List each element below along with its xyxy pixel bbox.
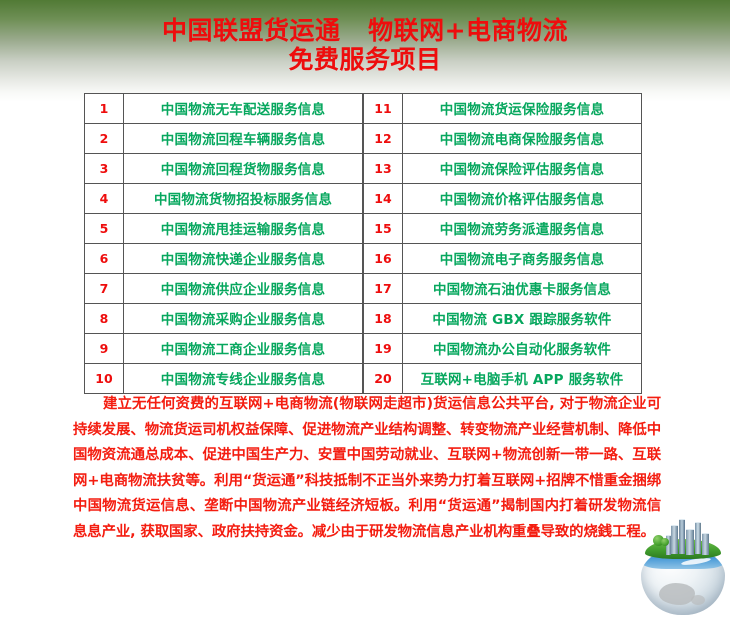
item-label[interactable]: 中国物流劳务派遣服务信息 [403, 214, 642, 244]
item-label[interactable]: 中国物流货运保险服务信息 [403, 94, 642, 124]
service-items-table: 1 中国物流无车配送服务信息 11 中国物流货运保险服务信息 2 中国物流回程车… [84, 93, 642, 394]
item-number: 18 [364, 304, 403, 334]
building-icon [671, 525, 678, 554]
item-number: 1 [85, 94, 124, 124]
page-title: 中国联盟货运通 物联网+电商物流 免费服务项目 [0, 16, 730, 74]
item-label[interactable]: 中国物流回程货物服务信息 [124, 154, 363, 184]
table-row: 7 中国物流供应企业服务信息 17 中国物流石油优惠卡服务信息 [85, 274, 642, 304]
table-row: 10 中国物流专线企业服务信息 20 互联网+电脑手机 APP 服务软件 [85, 364, 642, 394]
table-row: 9 中国物流工商企业服务信息 19 中国物流办公自动化服务软件 [85, 334, 642, 364]
title-line-2: 免费服务项目 [0, 45, 730, 74]
eco-city-globe-icon [637, 519, 729, 617]
item-number: 14 [364, 184, 403, 214]
item-number: 10 [85, 364, 124, 394]
globe-landmass [659, 583, 695, 605]
table-row: 8 中国物流采购企业服务信息 18 中国物流 GBX 跟踪服务软件 [85, 304, 642, 334]
item-label[interactable]: 中国物流甩挂运输服务信息 [124, 214, 363, 244]
item-label[interactable]: 中国物流保险评估服务信息 [403, 154, 642, 184]
body-paragraph: 建立无任何资费的互联网+电商物流(物联网走超市)货运信息公共平台, 对于物流企业… [73, 392, 661, 546]
item-number: 13 [364, 154, 403, 184]
item-label[interactable]: 中国物流专线企业服务信息 [124, 364, 363, 394]
item-number: 17 [364, 274, 403, 304]
title-line-1: 中国联盟货运通 物联网+电商物流 [0, 16, 730, 45]
table-row: 3 中国物流回程货物服务信息 13 中国物流保险评估服务信息 [85, 154, 642, 184]
item-number: 4 [85, 184, 124, 214]
item-label[interactable]: 中国物流电子商务服务信息 [403, 244, 642, 274]
table-row: 6 中国物流快递企业服务信息 16 中国物流电子商务服务信息 [85, 244, 642, 274]
item-label[interactable]: 中国物流办公自动化服务软件 [403, 334, 642, 364]
item-number: 5 [85, 214, 124, 244]
item-label[interactable]: 中国物流快递企业服务信息 [124, 244, 363, 274]
service-items-body: 1 中国物流无车配送服务信息 11 中国物流货运保险服务信息 2 中国物流回程车… [85, 94, 642, 394]
item-number: 9 [85, 334, 124, 364]
table-row: 1 中国物流无车配送服务信息 11 中国物流货运保险服务信息 [85, 94, 642, 124]
item-number: 16 [364, 244, 403, 274]
tree-icon [661, 538, 669, 546]
item-number: 12 [364, 124, 403, 154]
building-icon [679, 519, 685, 554]
table-row: 4 中国物流货物招投标服务信息 14 中国物流价格评估服务信息 [85, 184, 642, 214]
item-label[interactable]: 中国物流货物招投标服务信息 [124, 184, 363, 214]
item-number: 11 [364, 94, 403, 124]
slide-canvas: 中国联盟货运通 物联网+电商物流 免费服务项目 1 中国物流无车配送服务信息 1… [0, 0, 730, 620]
item-number: 3 [85, 154, 124, 184]
item-label[interactable]: 中国物流价格评估服务信息 [403, 184, 642, 214]
item-label[interactable]: 中国物流回程车辆服务信息 [124, 124, 363, 154]
item-label[interactable]: 中国物流采购企业服务信息 [124, 304, 363, 334]
item-number: 8 [85, 304, 124, 334]
building-icon [695, 522, 701, 554]
building-icon [686, 529, 694, 555]
item-label[interactable]: 互联网+电脑手机 APP 服务软件 [403, 364, 642, 394]
globe-landmass-small [691, 595, 705, 605]
table-row: 2 中国物流回程车辆服务信息 12 中国物流电商保险服务信息 [85, 124, 642, 154]
item-label[interactable]: 中国物流工商企业服务信息 [124, 334, 363, 364]
item-label[interactable]: 中国物流供应企业服务信息 [124, 274, 363, 304]
item-number: 19 [364, 334, 403, 364]
item-label[interactable]: 中国物流无车配送服务信息 [124, 94, 363, 124]
item-number: 7 [85, 274, 124, 304]
building-icon [702, 533, 709, 555]
item-label[interactable]: 中国物流电商保险服务信息 [403, 124, 642, 154]
item-number: 2 [85, 124, 124, 154]
item-label[interactable]: 中国物流 GBX 跟踪服务软件 [403, 304, 642, 334]
item-number: 20 [364, 364, 403, 394]
item-label[interactable]: 中国物流石油优惠卡服务信息 [403, 274, 642, 304]
item-number: 15 [364, 214, 403, 244]
item-number: 6 [85, 244, 124, 274]
table-row: 5 中国物流甩挂运输服务信息 15 中国物流劳务派遣服务信息 [85, 214, 642, 244]
